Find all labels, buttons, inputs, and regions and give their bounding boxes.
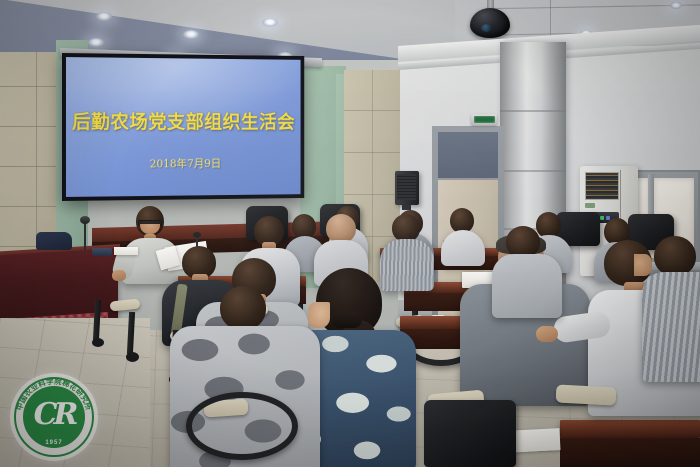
caster-wheel bbox=[126, 352, 139, 362]
ceiling-downlight bbox=[88, 38, 104, 47]
attendee-face bbox=[308, 302, 330, 328]
face-profile bbox=[634, 254, 652, 276]
ceiling-downlight bbox=[183, 30, 199, 39]
attendee-hand bbox=[536, 326, 558, 342]
presenter-hand bbox=[112, 270, 126, 281]
air-conditioner-brand-mark bbox=[585, 203, 595, 208]
attendee-shirt bbox=[380, 239, 434, 291]
ceiling-projector bbox=[470, 8, 510, 38]
exit-sign-icon bbox=[474, 116, 495, 123]
projection-screen-frame: 后勤农场党支部组织生活会 2018年7月9日 bbox=[62, 53, 304, 201]
caster-wheel bbox=[92, 338, 104, 347]
microphone-icon bbox=[80, 216, 90, 224]
desk-front bbox=[560, 438, 700, 467]
projection-screen: 后勤农场党支部组织生活会 2018年7月9日 bbox=[62, 53, 304, 201]
projector-lens-icon bbox=[481, 24, 492, 32]
door-transom bbox=[438, 132, 498, 178]
chair-armrest[interactable] bbox=[556, 384, 617, 405]
bag bbox=[36, 232, 72, 250]
desk bbox=[560, 420, 700, 438]
slide-canvas: 后勤农场党支部组织生活会 2018年7月9日 bbox=[66, 57, 301, 197]
exit-sign bbox=[471, 114, 497, 125]
logo-year: 1957 bbox=[10, 440, 98, 446]
attendee-shirt bbox=[492, 254, 562, 318]
screen-glare bbox=[66, 57, 301, 148]
notebook bbox=[92, 248, 112, 256]
watermark-logo: 中国农业科学院棉花研究所 INSTITUTE OF COTTON RESEARC… bbox=[10, 373, 98, 461]
microphone-stand bbox=[84, 222, 86, 250]
chair-ring[interactable] bbox=[186, 392, 298, 460]
logo-disc: CR bbox=[23, 386, 85, 448]
microphone-icon bbox=[193, 232, 201, 238]
ceiling-downlight bbox=[670, 2, 682, 9]
speaker-grill-icon bbox=[397, 174, 416, 200]
slide-date: 2018年7月9日 bbox=[150, 155, 221, 171]
ceiling-downlight bbox=[262, 18, 278, 27]
meeting-room-photo: 后勤农场党支部组织生活会 2018年7月9日 bbox=[0, 0, 700, 467]
ceiling-downlight bbox=[96, 12, 112, 21]
paper-stack bbox=[114, 247, 138, 255]
office-chair[interactable] bbox=[424, 400, 516, 467]
air-conditioner-vent-icon bbox=[585, 172, 619, 200]
slide-title: 后勤农场党支部组织生活会 bbox=[72, 107, 295, 134]
hair-tie bbox=[332, 312, 362, 328]
attendee-shirt bbox=[642, 272, 700, 382]
logo-monogram: CR bbox=[34, 400, 75, 430]
